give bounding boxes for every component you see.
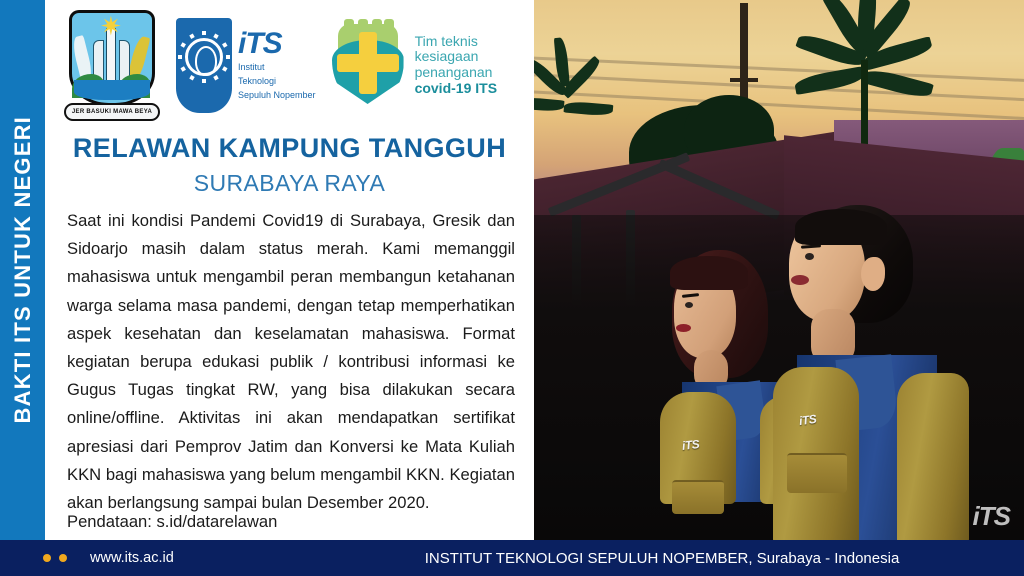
its-gear-icon xyxy=(185,38,223,76)
vest-its-badge: iTS xyxy=(681,437,700,453)
east-java-emblem-icon: ✷ JER BASUKI MAWA BEYA xyxy=(60,6,164,124)
vest-pocket xyxy=(787,453,847,493)
volunteer-illustration: iTS iTS iTS xyxy=(534,0,1024,540)
eye xyxy=(685,302,693,308)
lips xyxy=(791,275,809,285)
its-name-line2: Teknologi xyxy=(238,76,316,87)
covid-line3: penanganan xyxy=(415,65,497,81)
its-shield-icon xyxy=(176,18,232,113)
ear xyxy=(861,257,885,291)
emblem-water xyxy=(74,80,150,100)
registration-line: Pendataan: s.id/datarelawan xyxy=(67,512,515,532)
lips xyxy=(676,324,691,332)
covid-cross-leaf-icon xyxy=(328,22,408,108)
its-name-line3: Sepuluh Nopember xyxy=(238,90,316,101)
content-panel: ✷ JER BASUKI MAWA BEYA xyxy=(45,0,534,540)
its-logo: iTS Institut Teknologi Sepuluh Nopember xyxy=(176,18,316,113)
vest-pocket xyxy=(672,480,724,514)
footer-bar: www.its.ac.id INSTITUT TEKNOLOGI SEPULUH… xyxy=(0,540,1024,576)
hair-fringe xyxy=(795,209,887,245)
covid-line1: Tim teknis xyxy=(415,34,497,50)
covid-team-logo: Tim teknis kesiagaan penanganan covid-19… xyxy=(328,22,497,108)
footer-institution-name: INSTITUT TEKNOLOGI SEPULUH NOPEMBER, Sur… xyxy=(0,550,1024,567)
eye xyxy=(805,253,814,260)
poster-canvas: iTS iTS iTS BAKTI ITS UNTUK NEGERI xyxy=(0,0,1024,576)
its-acronym: iTS xyxy=(238,29,316,59)
covid-line2: kesiagaan xyxy=(415,49,497,65)
volunteer-vest xyxy=(897,373,969,540)
page-subtitle: SURABAYA RAYA xyxy=(45,170,534,197)
its-name-line1: Institut xyxy=(238,62,316,73)
its-wordmark: iTS Institut Teknologi Sepuluh Nopember xyxy=(238,29,316,101)
covid-cross-horizontal xyxy=(337,54,399,72)
left-sidebar: BAKTI ITS UNTUK NEGERI xyxy=(0,0,45,540)
covid-team-text: Tim teknis kesiagaan penanganan covid-19… xyxy=(415,34,497,97)
covid-line4: covid-19 ITS xyxy=(415,81,497,97)
page-title: RELAWAN KAMPUNG TANGGUH xyxy=(45,133,534,164)
vest-its-badge: iTS xyxy=(798,412,817,428)
emblem-motto-ribbon: JER BASUKI MAWA BEYA xyxy=(64,103,160,121)
utility-pole-arm xyxy=(730,78,758,82)
sidebar-slogan: BAKTI ITS UNTUK NEGERI xyxy=(0,116,45,424)
body-paragraph: Saat ini kondisi Pandemi Covid19 di Sura… xyxy=(67,207,515,517)
its-watermark: iTS xyxy=(973,501,1010,532)
sidebar-vertical-text: BAKTI ITS UNTUK NEGERI xyxy=(0,0,45,540)
hair-fringe xyxy=(670,256,748,290)
logo-row: ✷ JER BASUKI MAWA BEYA xyxy=(45,6,534,124)
